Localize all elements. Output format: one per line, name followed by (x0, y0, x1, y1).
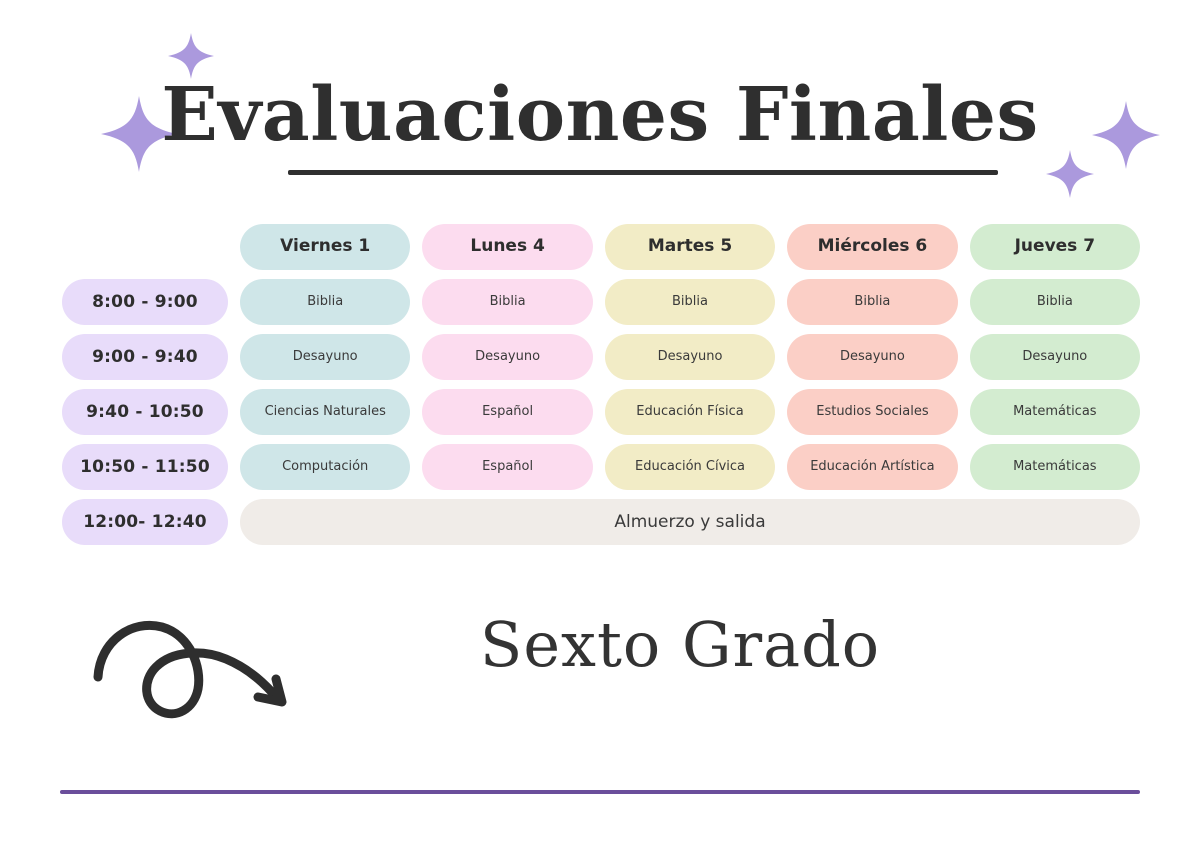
schedule-cell: Biblia (240, 279, 410, 325)
schedule-cell: Desayuno (240, 334, 410, 380)
schedule-cell: Biblia (970, 279, 1140, 325)
lunch-cell: Almuerzo y salida (240, 499, 1140, 545)
time-slot: 9:00 - 9:40 (62, 334, 228, 380)
schedule-cell: Desayuno (605, 334, 775, 380)
title-area: Evaluaciones Finales (0, 0, 1200, 215)
schedule-cell: Matemáticas (970, 444, 1140, 490)
schedule-cell: Español (422, 389, 592, 435)
grade-title: Sexto Grado (380, 608, 980, 681)
table-header-row: Viernes 1 Lunes 4 Martes 5 Miércoles 6 J… (62, 224, 1140, 270)
time-slot: 9:40 - 10:50 (62, 389, 228, 435)
time-slot: 8:00 - 9:00 (62, 279, 228, 325)
schedule-cell: Biblia (787, 279, 957, 325)
table-row: 8:00 - 9:00 Biblia Biblia Biblia Biblia … (62, 279, 1140, 325)
schedule-cell: Estudios Sociales (787, 389, 957, 435)
table-row: 9:00 - 9:40 Desayuno Desayuno Desayuno D… (62, 334, 1140, 380)
schedule-cell: Biblia (605, 279, 775, 325)
schedule-cell: Español (422, 444, 592, 490)
schedule-cell: Ciencias Naturales (240, 389, 410, 435)
time-column-header (62, 224, 228, 270)
table-row: 10:50 - 11:50 Computación Español Educac… (62, 444, 1140, 490)
schedule-cell: Desayuno (422, 334, 592, 380)
day-header-4: Jueves 7 (970, 224, 1140, 270)
schedule-cell: Biblia (422, 279, 592, 325)
lunch-row: 12:00- 12:40 Almuerzo y salida (62, 499, 1140, 545)
table-row: 9:40 - 10:50 Ciencias Naturales Español … (62, 389, 1140, 435)
schedule-cell: Desayuno (787, 334, 957, 380)
day-header-2: Martes 5 (605, 224, 775, 270)
day-header-0: Viernes 1 (240, 224, 410, 270)
bottom-divider (60, 790, 1140, 794)
time-slot: 12:00- 12:40 (62, 499, 228, 545)
day-header-3: Miércoles 6 (787, 224, 957, 270)
schedule-cell: Computación (240, 444, 410, 490)
footer-area: Sexto Grado (0, 580, 1200, 780)
schedule-table: Viernes 1 Lunes 4 Martes 5 Miércoles 6 J… (62, 224, 1140, 554)
schedule-cell: Desayuno (970, 334, 1140, 380)
schedule-cell: Matemáticas (970, 389, 1140, 435)
schedule-cell: Educación Artística (787, 444, 957, 490)
schedule-cell: Educación Cívica (605, 444, 775, 490)
sparkle-icon (1046, 145, 1094, 203)
day-header-1: Lunes 4 (422, 224, 592, 270)
title-underline (288, 170, 998, 175)
schedule-cell: Educación Física (605, 389, 775, 435)
page-title: Evaluaciones Finales (0, 78, 1200, 152)
curly-arrow-icon (86, 605, 316, 720)
time-slot: 10:50 - 11:50 (62, 444, 228, 490)
